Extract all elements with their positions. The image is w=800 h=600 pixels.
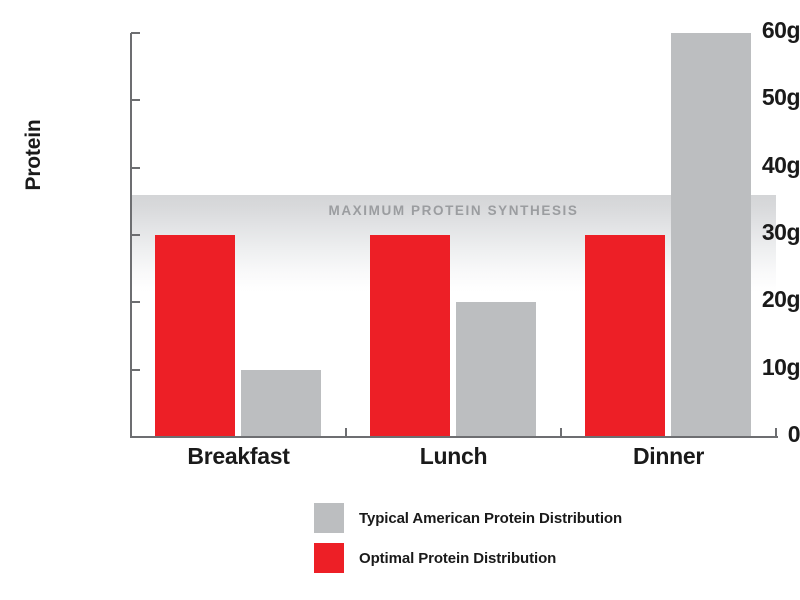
protein-distribution-chart: Protein MAXIMUM PROTEIN SYNTHESIS 60g50g… [0,0,800,600]
bar-optimal-dinner [585,235,665,437]
legend-item-optimal: Optimal Protein Distribution [314,541,622,575]
y-tick-label: 40g [680,152,800,179]
legend-swatch-optimal-icon [314,543,344,573]
y-tick-mark [131,369,140,371]
chart-legend: Typical American Protein Distribution Op… [314,501,622,581]
y-tick-mark [131,99,140,101]
y-tick-label: 50g [680,84,800,111]
y-tick-mark [131,234,140,236]
legend-label-optimal: Optimal Protein Distribution [359,550,556,567]
legend-label-typical: Typical American Protein Distribution [359,510,622,527]
y-tick-label: 10g [680,354,800,381]
y-tick-label: 30g [680,219,800,246]
bar-optimal-lunch [370,235,450,437]
bar-optimal-breakfast [155,235,235,437]
bar-typical-breakfast [241,370,321,437]
x-tick-mark [560,428,562,437]
x-tick-mark [345,428,347,437]
y-tick-label: 60g [680,17,800,44]
y-tick-mark [131,167,140,169]
x-tick-mark [775,428,777,437]
x-label-lunch: Lunch [346,443,561,470]
x-label-breakfast: Breakfast [131,443,346,470]
legend-swatch-typical-icon [314,503,344,533]
y-tick-mark [131,436,140,438]
y-tick-mark [131,301,140,303]
y-tick-label: 20g [680,286,800,313]
legend-item-typical: Typical American Protein Distribution [314,501,622,535]
x-label-dinner: Dinner [561,443,776,470]
bar-typical-lunch [456,302,536,437]
y-tick-mark [131,32,140,34]
y-axis-title: Protein [14,90,54,220]
